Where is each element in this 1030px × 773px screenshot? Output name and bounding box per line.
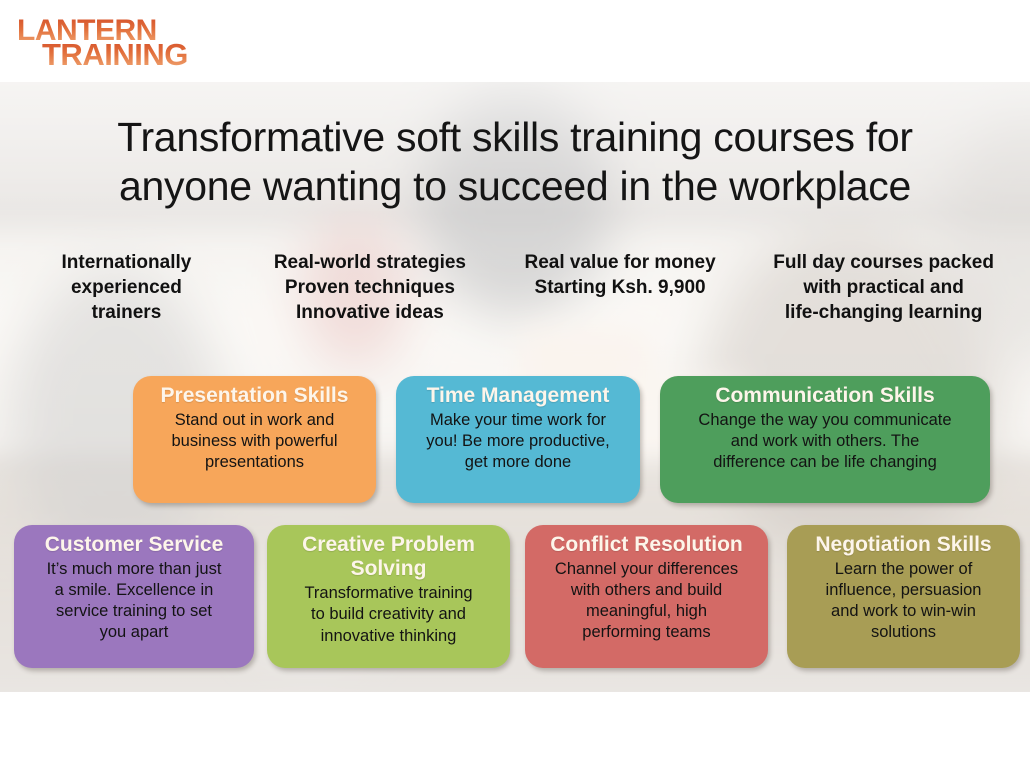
feature-line: Real value for money (501, 250, 739, 275)
course-card-negotiation-skills[interactable]: Negotiation Skills Learn the power of in… (787, 525, 1020, 668)
feature-line: with practical and (751, 275, 1016, 300)
card-body-line: Transformative training (277, 583, 500, 604)
card-body: Stand out in work and business with powe… (143, 410, 366, 473)
card-body-line: business with powerful (143, 431, 366, 452)
course-card-communication-skills[interactable]: Communication Skills Change the way you … (660, 376, 990, 503)
course-card-presentation-skills[interactable]: Presentation Skills Stand out in work an… (133, 376, 376, 503)
card-title: Negotiation Skills (797, 533, 1010, 557)
headline-line-two: anyone wanting to succeed in the workpla… (40, 162, 990, 211)
card-body-line: and work to win-win (797, 601, 1010, 622)
card-body: Make your time work for you! Be more pro… (406, 410, 630, 473)
feature-column-full-day: Full day courses packed with practical a… (745, 250, 1022, 325)
card-body-line: with others and build (535, 580, 758, 601)
card-title: Presentation Skills (143, 384, 366, 408)
feature-columns: Internationally experienced trainers Rea… (8, 250, 1022, 325)
course-card-conflict-resolution[interactable]: Conflict Resolution Channel your differe… (525, 525, 768, 668)
card-title: Conflict Resolution (535, 533, 758, 557)
lantern-training-logo: LANTERN TRAINING (14, 16, 229, 72)
feature-column-trainers: Internationally experienced trainers (8, 250, 245, 325)
card-body: Channel your differences with others and… (535, 559, 758, 643)
card-body: It’s much more than just a smile. Excell… (24, 559, 244, 643)
feature-line: Real-world strategies (251, 250, 489, 275)
card-title: Customer Service (24, 533, 244, 557)
card-body-line: a smile. Excellence in (24, 580, 244, 601)
card-title: Creative Problem Solving (277, 533, 500, 581)
feature-line: trainers (14, 300, 239, 325)
card-body-line: performing teams (535, 622, 758, 643)
card-body-line: solutions (797, 622, 1010, 643)
card-body-line: Make your time work for (406, 410, 630, 431)
card-body-line: meaningful, high (535, 601, 758, 622)
feature-line: Proven techniques (251, 275, 489, 300)
course-card-customer-service[interactable]: Customer Service It’s much more than jus… (14, 525, 254, 668)
card-title: Communication Skills (670, 384, 980, 408)
card-title: Time Management (406, 384, 630, 408)
slide-content: Transformative soft skills training cour… (0, 0, 1030, 773)
header-band: LANTERN TRAINING (0, 0, 1030, 82)
course-card-creative-problem-solving[interactable]: Creative Problem Solving Transformative … (267, 525, 510, 668)
card-body-line: difference can be life changing (670, 452, 980, 473)
marketing-slide: LANTERN TRAINING Transformative soft ski… (0, 0, 1030, 773)
card-body-line: influence, persuasion (797, 580, 1010, 601)
feature-line: Internationally (14, 250, 239, 275)
card-body-line: service training to set (24, 601, 244, 622)
card-body-line: innovative thinking (277, 626, 500, 647)
headline-line-one: Transformative soft skills training cour… (40, 113, 990, 162)
feature-line: life-changing learning (751, 300, 1016, 325)
card-body: Learn the power of influence, persuasion… (797, 559, 1010, 643)
course-card-time-management[interactable]: Time Management Make your time work for … (396, 376, 640, 503)
card-body-line: It’s much more than just (24, 559, 244, 580)
page-title: Transformative soft skills training cour… (40, 113, 990, 211)
card-body-line: presentations (143, 452, 366, 473)
card-body-line: Stand out in work and (143, 410, 366, 431)
card-body: Transformative training to build creativ… (277, 583, 500, 646)
card-body-line: you apart (24, 622, 244, 643)
feature-line: Innovative ideas (251, 300, 489, 325)
card-body-line: you! Be more productive, (406, 431, 630, 452)
card-body-line: Channel your differences (535, 559, 758, 580)
feature-line: Full day courses packed (751, 250, 1016, 275)
feature-line: Starting Ksh. 9,900 (501, 275, 739, 300)
feature-line: experienced (14, 275, 239, 300)
feature-column-strategies: Real-world strategies Proven techniques … (245, 250, 495, 325)
card-body-line: to build creativity and (277, 604, 500, 625)
footer-band (0, 692, 1030, 773)
logo-line-two: TRAINING (42, 39, 188, 70)
card-body-line: Learn the power of (797, 559, 1010, 580)
card-body-line: get more done (406, 452, 630, 473)
card-body-line: and work with others. The (670, 431, 980, 452)
card-body-line: Change the way you communicate (670, 410, 980, 431)
feature-column-price: Real value for money Starting Ksh. 9,900 (495, 250, 745, 300)
card-body: Change the way you communicate and work … (670, 410, 980, 473)
